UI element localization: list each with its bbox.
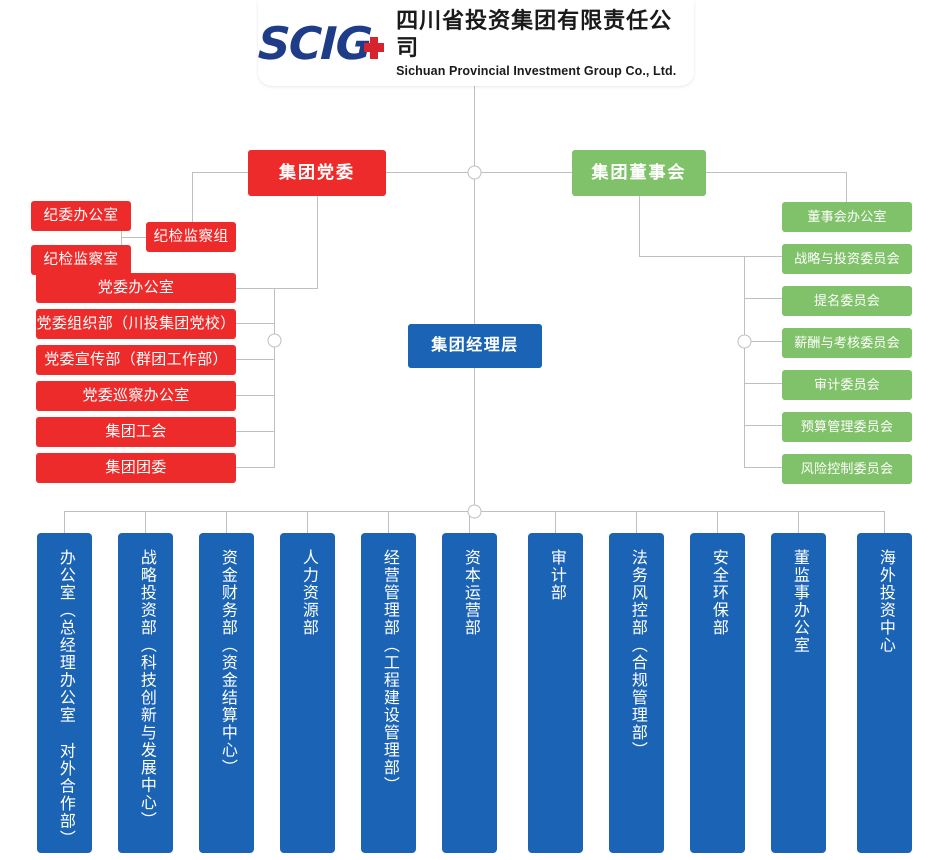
- hub-node-board: [738, 335, 751, 348]
- node-discipline-inspection-room[interactable]: 纪检监察室: [31, 245, 131, 275]
- dept-directors-supervisors-office[interactable]: 董监事办公室: [771, 533, 826, 853]
- node-party-committee[interactable]: 集团党委: [248, 150, 386, 196]
- company-name-block: 四川省投资集团有限责任公司 Sichuan Provincial Investm…: [396, 7, 694, 79]
- node-discipline-commission-office[interactable]: 纪委办公室: [31, 201, 131, 231]
- logo-wordmark: SCIG: [257, 21, 372, 66]
- dept-finance-funds[interactable]: 资金财务部（资金结算中心）: [199, 533, 254, 853]
- node-party-organization-dept[interactable]: 党委组织部（川投集团党校）: [36, 309, 236, 339]
- dept-overseas-investment-center[interactable]: 海外投资中心: [857, 533, 912, 853]
- node-strategy-investment-committee[interactable]: 战略与投资委员会: [782, 244, 912, 274]
- scig-logo-icon: SCIG: [258, 20, 384, 66]
- logo-cross-icon: [364, 37, 384, 59]
- dept-label: 办公室（总经理办公室 对外合作部）: [56, 549, 73, 841]
- node-party-inspection-office[interactable]: 党委巡察办公室: [36, 381, 236, 411]
- company-name-cn: 四川省投资集团有限责任公司: [396, 7, 694, 62]
- node-party-propaganda-dept[interactable]: 党委宣传部（群团工作部）: [36, 345, 236, 375]
- dept-general-office[interactable]: 办公室（总经理办公室 对外合作部）: [37, 533, 92, 853]
- hub-node-party: [268, 334, 281, 347]
- node-discipline-inspection-group[interactable]: 纪检监察组: [146, 222, 236, 252]
- company-logo-card: SCIG 四川省投资集团有限责任公司 Sichuan Provincial In…: [258, 0, 694, 86]
- dept-legal-risk-control[interactable]: 法务风控部（合规管理部）: [609, 533, 664, 853]
- dept-label: 资本运营部: [461, 549, 478, 637]
- dept-audit[interactable]: 审计部: [528, 533, 583, 853]
- node-nomination-committee[interactable]: 提名委员会: [782, 286, 912, 316]
- node-compensation-appraisal-committee[interactable]: 薪酬与考核委员会: [782, 328, 912, 358]
- node-board-office[interactable]: 董事会办公室: [782, 202, 912, 232]
- node-budget-management-committee[interactable]: 预算管理委员会: [782, 412, 912, 442]
- dept-label: 海外投资中心: [876, 549, 893, 654]
- dept-label: 审计部: [547, 549, 564, 602]
- dept-label: 安全环保部: [709, 549, 726, 637]
- dept-label: 法务风控部（合规管理部）: [628, 549, 645, 759]
- dept-label: 人力资源部: [299, 549, 316, 637]
- dept-human-resources[interactable]: 人力资源部: [280, 533, 335, 853]
- dept-operations-management[interactable]: 经营管理部（工程建设管理部）: [361, 533, 416, 853]
- dept-label: 经营管理部（工程建设管理部）: [380, 549, 397, 794]
- org-chart: SCIG 四川省投资集团有限责任公司 Sichuan Provincial In…: [0, 0, 950, 860]
- node-party-office[interactable]: 党委办公室: [36, 273, 236, 303]
- node-group-youth-league[interactable]: 集团团委: [36, 453, 236, 483]
- company-name-en: Sichuan Provincial Investment Group Co.,…: [396, 63, 694, 79]
- hub-node-top: [468, 166, 481, 179]
- node-audit-committee[interactable]: 审计委员会: [782, 370, 912, 400]
- dept-label: 资金财务部（资金结算中心）: [218, 549, 235, 777]
- hub-node-departments: [468, 505, 481, 518]
- dept-safety-environment[interactable]: 安全环保部: [690, 533, 745, 853]
- dept-label: 董监事办公室: [790, 549, 807, 654]
- node-risk-control-committee[interactable]: 风险控制委员会: [782, 454, 912, 484]
- dept-capital-operations[interactable]: 资本运营部: [442, 533, 497, 853]
- node-group-labor-union[interactable]: 集团工会: [36, 417, 236, 447]
- node-management-layer[interactable]: 集团经理层: [408, 324, 542, 368]
- dept-label: 战略投资部（科技创新与发展中心）: [137, 549, 154, 829]
- node-board-of-directors[interactable]: 集团董事会: [572, 150, 706, 196]
- dept-strategy-investment[interactable]: 战略投资部（科技创新与发展中心）: [118, 533, 173, 853]
